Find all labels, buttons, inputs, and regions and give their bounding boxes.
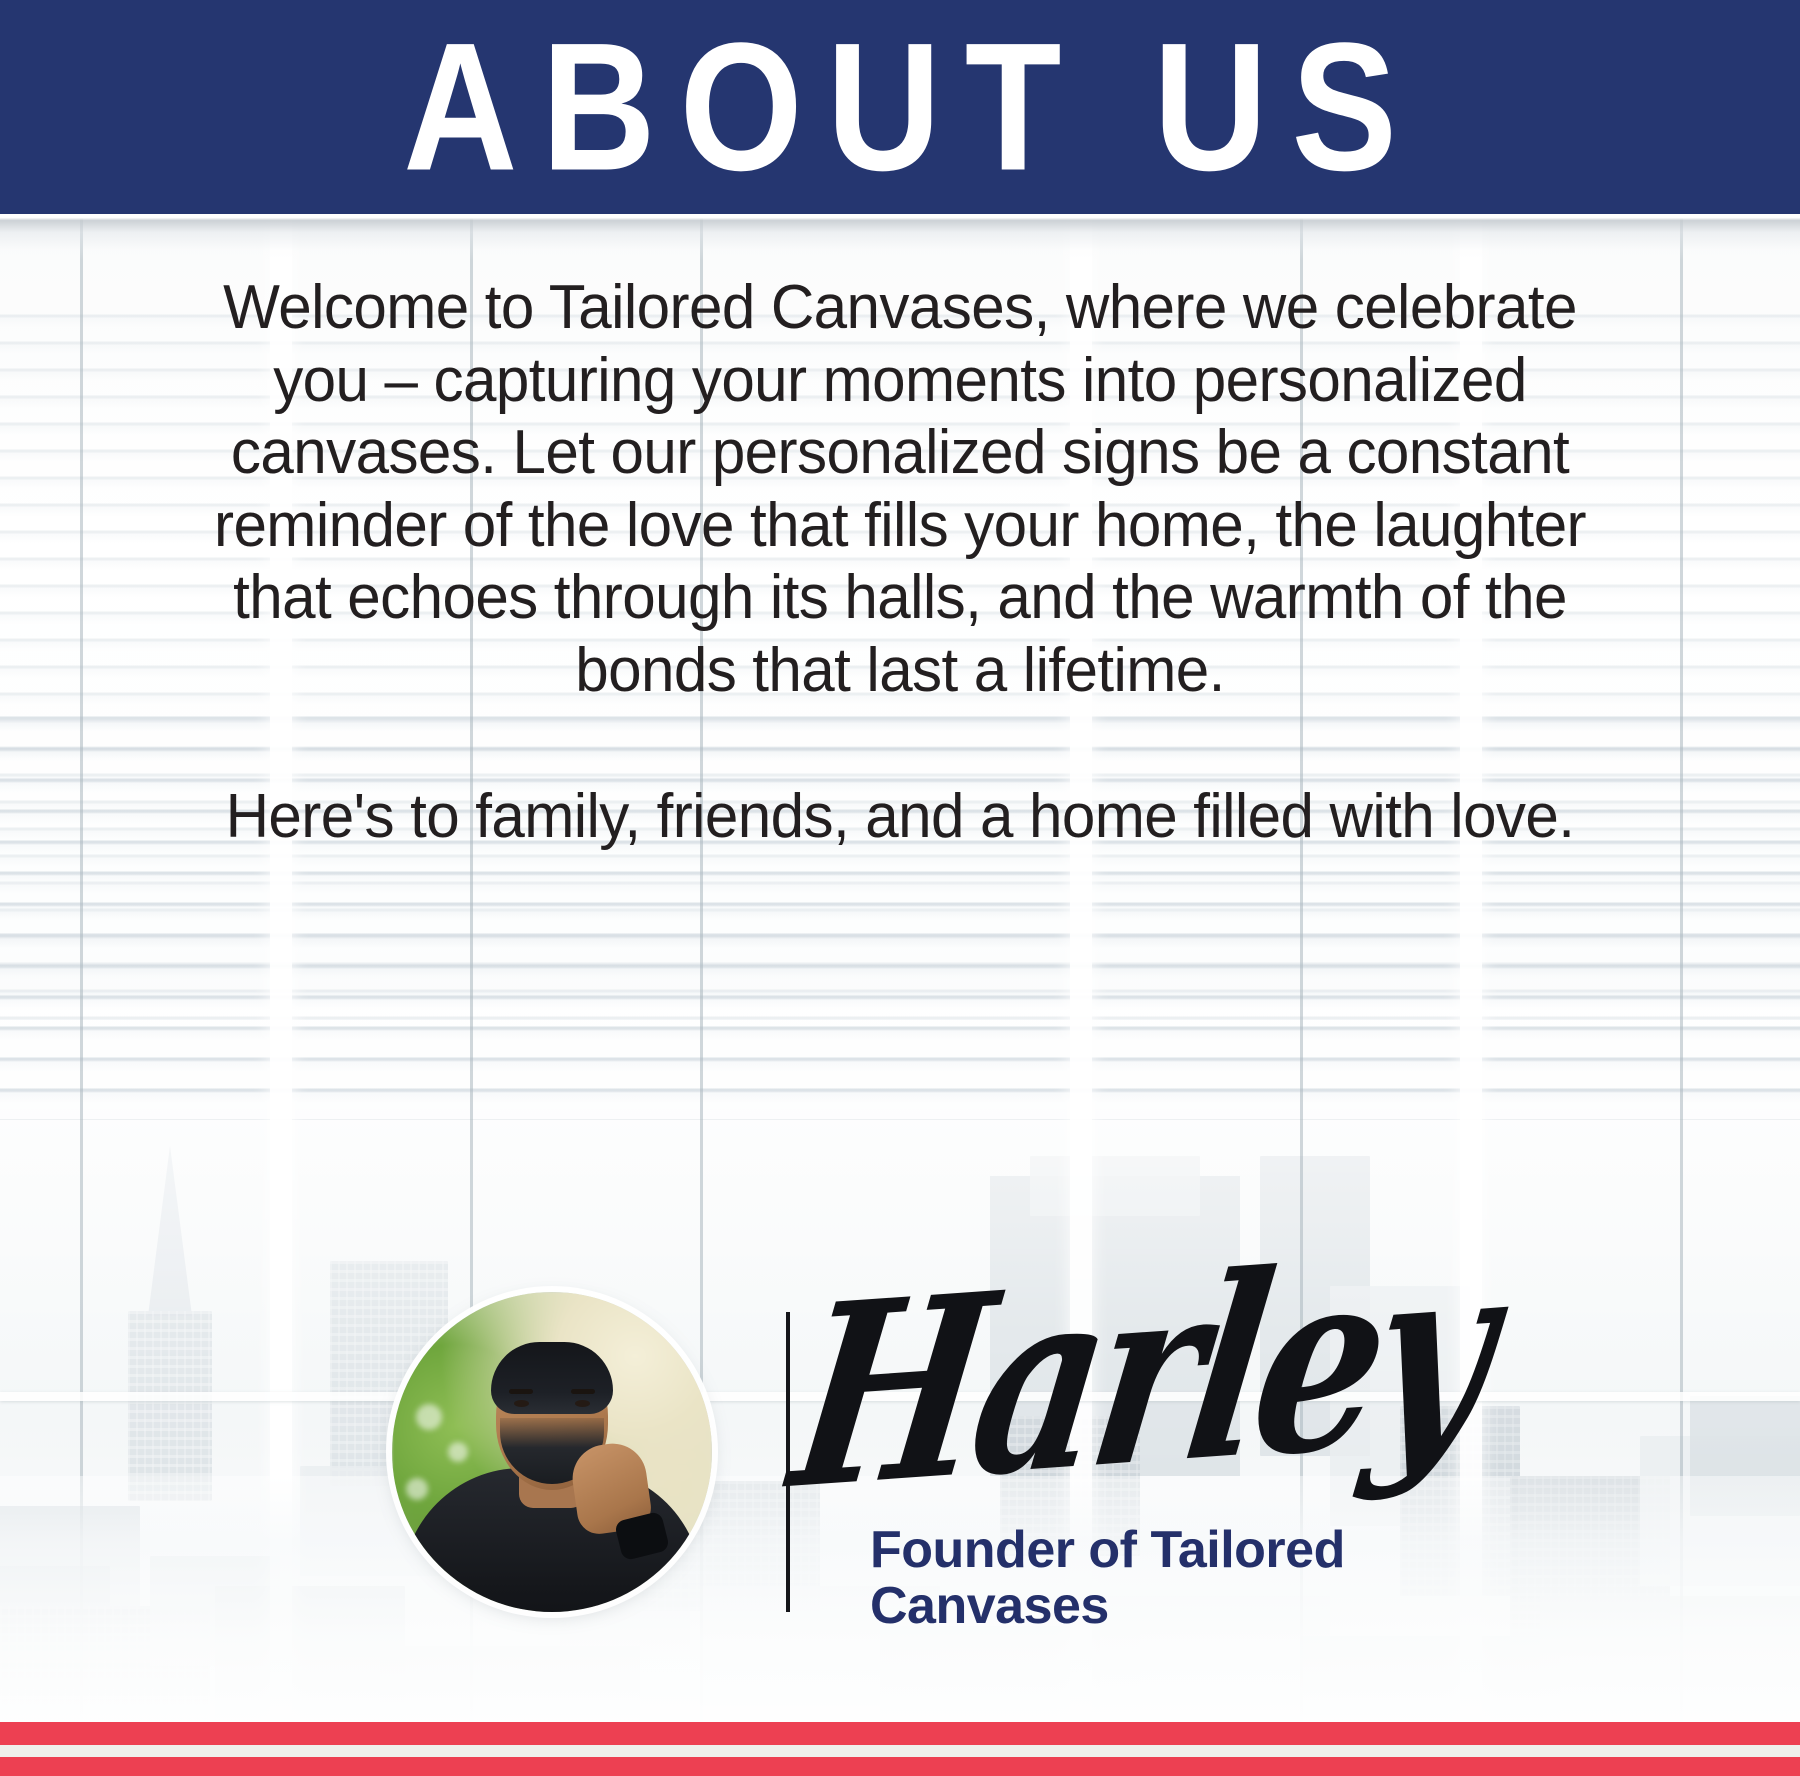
paragraph-two: Here's to family, friends, and a home fi… xyxy=(211,781,1588,854)
footer-bar-gap xyxy=(0,1745,1800,1757)
founder-role-line-1: Founder of Tailored xyxy=(870,1522,1430,1578)
header-banner: ABOUT US xyxy=(0,0,1800,214)
avatar-hair xyxy=(491,1342,613,1414)
founder-role: Founder of Tailored Canvases xyxy=(870,1522,1430,1634)
page-title: ABOUT US xyxy=(379,16,1421,198)
about-us-card: ABOUT US Welcome to Tailored Canvases, w… xyxy=(0,0,1800,1776)
founder-signature: Harley xyxy=(781,1226,1499,1525)
paragraph-one: Welcome to Tailored Canvases, where we c… xyxy=(211,272,1588,707)
header-drop-shadow xyxy=(0,214,1800,260)
avatar xyxy=(392,1292,712,1612)
footer-bar-top xyxy=(0,1722,1800,1745)
paragraph-spacer xyxy=(190,707,1610,781)
signature-wrap: Harley xyxy=(820,1300,1300,1530)
footer-bar-bottom xyxy=(0,1757,1800,1776)
about-us-copy: Welcome to Tailored Canvases, where we c… xyxy=(190,272,1610,854)
founder-role-line-2: Canvases xyxy=(870,1578,1430,1634)
